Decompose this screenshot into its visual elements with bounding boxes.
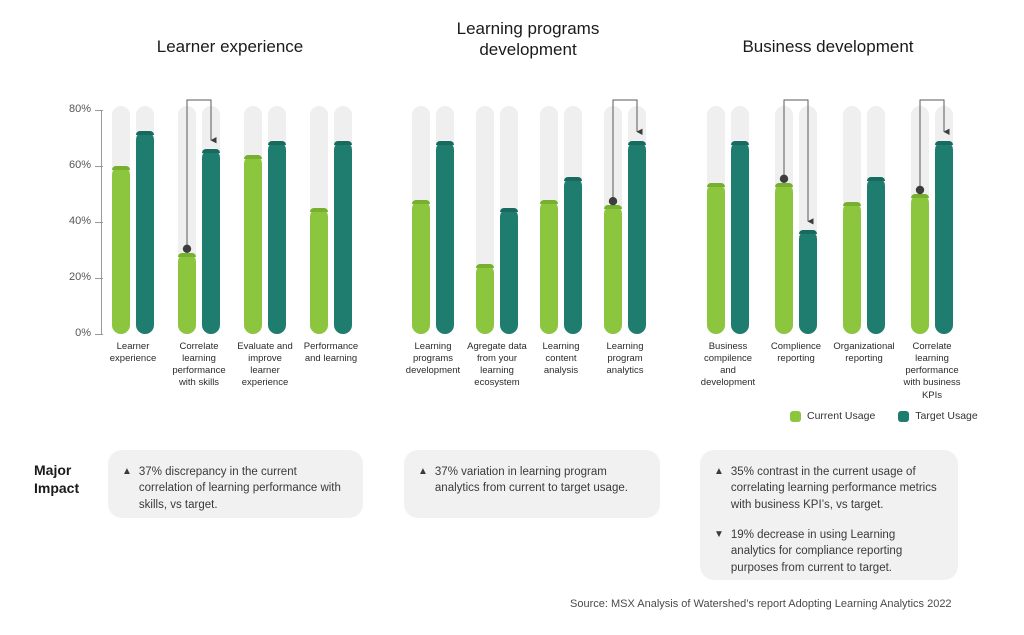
panel-title-line: Business development	[728, 36, 928, 57]
legend-label-current: Current Usage	[807, 410, 875, 422]
category-label: Evaluate andimprove learnerexperience	[234, 341, 296, 390]
bar-current[interactable]	[911, 194, 929, 334]
bar-cap	[707, 183, 725, 187]
chart-canvas: Learner experience Learning programs dev…	[0, 0, 1024, 635]
category-label-line: Correlate	[900, 341, 964, 353]
bar-current[interactable]	[476, 264, 494, 334]
category-label: Learningcontentanalysis	[530, 341, 592, 377]
impact-text: 35% contrast in the current usage of cor…	[731, 464, 942, 513]
bar-target[interactable]	[500, 208, 518, 334]
category-label: Compliencereporting	[764, 341, 828, 365]
impact-box-learner-experience: ▲37% discrepancy in the current correlat…	[108, 450, 363, 518]
bar-cap	[476, 264, 494, 268]
legend-swatch-current	[790, 411, 801, 422]
category-label-line: Organizational	[832, 341, 896, 353]
bar-current[interactable]	[540, 200, 558, 334]
bar-target[interactable]	[799, 230, 817, 334]
category-label-line: improve learner	[234, 353, 296, 377]
category-label-line: learning	[168, 353, 230, 365]
arrow-up-icon: ▲	[714, 464, 724, 513]
bar-cap	[310, 208, 328, 212]
bar-cap	[244, 155, 262, 159]
bar-current[interactable]	[843, 202, 861, 334]
panel-title-learner-experience: Learner experience	[130, 36, 330, 57]
bar-target[interactable]	[136, 131, 154, 334]
legend-swatch-target	[898, 411, 909, 422]
bar-current[interactable]	[178, 253, 196, 334]
panel-title-learning-programs-development: Learning programs development	[428, 18, 628, 61]
category-label: Correlatelearningperformancewith skills	[168, 341, 230, 390]
bar-cap	[334, 141, 352, 145]
panel-title-line: Learner experience	[130, 36, 330, 57]
category-label-line: analytics	[594, 365, 656, 377]
category-label: Correlatelearningperformancewith busines…	[900, 341, 964, 402]
category-label-line: performance	[900, 365, 964, 377]
category-label-line: development	[402, 365, 464, 377]
bar-current[interactable]	[310, 208, 328, 334]
bar-cap	[775, 183, 793, 187]
category-label-line: Complience	[764, 341, 828, 353]
y-axis-tick	[95, 166, 103, 167]
bar-target[interactable]	[334, 141, 352, 334]
category-label-line: experience	[234, 377, 296, 389]
chart-legend: Current Usage Target Usage	[790, 410, 978, 422]
bar-cap	[843, 202, 861, 206]
category-label-line: Learning	[594, 341, 656, 353]
category-label: Organizationalreporting	[832, 341, 896, 365]
category-label-line: KPIs	[900, 390, 964, 402]
category-label-line: Evaluate and	[234, 341, 296, 353]
bar-cap	[935, 141, 953, 145]
bar-cap	[911, 194, 929, 198]
bar-cap	[604, 205, 622, 209]
category-label-line: with business	[900, 377, 964, 389]
bar-cap	[268, 141, 286, 145]
category-label-line: from your	[466, 353, 528, 365]
category-label: Learnerexperience	[102, 341, 164, 365]
category-label-line: development	[696, 377, 760, 389]
bar-cap	[731, 141, 749, 145]
bar-current[interactable]	[412, 200, 430, 334]
y-axis-tick	[95, 278, 103, 279]
legend-item-target-usage: Target Usage	[898, 410, 977, 422]
legend-label-target: Target Usage	[915, 410, 977, 422]
bar-cap	[136, 131, 154, 135]
legend-item-current-usage: Current Usage	[790, 410, 875, 422]
bar-cap	[112, 166, 130, 170]
bar-cap	[412, 200, 430, 204]
bar-cap	[564, 177, 582, 181]
bar-target[interactable]	[935, 141, 953, 334]
category-label-line: content	[530, 353, 592, 365]
category-label-line: reporting	[764, 353, 828, 365]
category-label-line: Business	[696, 341, 760, 353]
source-note: Source: MSX Analysis of Watershed’s repo…	[570, 598, 952, 610]
arrow-up-icon: ▲	[418, 464, 428, 497]
arrow-down-icon: ▼	[714, 527, 724, 576]
category-label-line: Correlate	[168, 341, 230, 353]
bar-cap	[178, 253, 196, 257]
category-label-line: program	[594, 353, 656, 365]
category-label-line: programs	[402, 353, 464, 365]
category-label: Learningprogramanalytics	[594, 341, 656, 377]
bar-current[interactable]	[707, 183, 725, 334]
y-axis-tick-label: 40%	[57, 215, 91, 227]
bar-cap	[867, 177, 885, 181]
impact-text: 37% variation in learning program analyt…	[435, 464, 644, 497]
category-label: Agregate datafrom yourlearningecosystem	[466, 341, 528, 390]
bar-cap	[436, 141, 454, 145]
bar-current[interactable]	[775, 183, 793, 334]
bar-current[interactable]	[244, 155, 262, 334]
panel-title-line: development	[428, 39, 628, 60]
y-axis-tick-label: 0%	[57, 327, 91, 339]
impact-item: ▲37% variation in learning program analy…	[418, 464, 644, 497]
category-label: Businesscompilence anddevelopment	[696, 341, 760, 390]
bar-target[interactable]	[564, 177, 582, 334]
impact-box-learning-programs: ▲37% variation in learning program analy…	[404, 450, 660, 518]
category-label-line: with skills	[168, 377, 230, 389]
bar-target[interactable]	[436, 141, 454, 334]
major-impact-heading-line: Major	[34, 461, 79, 479]
y-axis-tick	[95, 334, 103, 335]
category-label-line: Learning	[530, 341, 592, 353]
arrow-up-icon: ▲	[122, 464, 132, 513]
impact-text: 19% decrease in using Learning analytics…	[731, 527, 942, 576]
y-axis-tick	[95, 222, 103, 223]
major-impact-heading-line: Impact	[34, 479, 79, 497]
impact-box-business-development: ▲35% contrast in the current usage of co…	[700, 450, 958, 580]
y-axis-tick	[95, 110, 103, 111]
category-label-line: performance	[168, 365, 230, 377]
category-label-line: Learning	[402, 341, 464, 353]
bar-cap	[628, 141, 646, 145]
category-label-line: ecosystem	[466, 377, 528, 389]
panel-title-business-development: Business development	[728, 36, 928, 57]
panel-title-line: Learning programs	[428, 18, 628, 39]
category-label-line: learning	[466, 365, 528, 377]
category-label-line: Performance	[300, 341, 362, 353]
category-label-line: analysis	[530, 365, 592, 377]
impact-item: ▲37% discrepancy in the current correlat…	[122, 464, 347, 513]
category-label: Performanceand learning	[300, 341, 362, 365]
impact-item: ▼19% decrease in using Learning analytic…	[714, 527, 942, 576]
bar-cap	[540, 200, 558, 204]
y-axis-tick-label: 60%	[57, 159, 91, 171]
category-label-line: learning	[900, 353, 964, 365]
bar-cap	[799, 230, 817, 234]
category-label-line: and learning	[300, 353, 362, 365]
category-label-line: reporting	[832, 353, 896, 365]
bar-target[interactable]	[268, 141, 286, 334]
category-label-line: Agregate data	[466, 341, 528, 353]
bar-current[interactable]	[604, 205, 622, 334]
impact-item: ▲35% contrast in the current usage of co…	[714, 464, 942, 513]
major-impact-heading: Major Impact	[34, 461, 79, 497]
category-label-line: experience	[102, 353, 164, 365]
bar-cap	[202, 149, 220, 153]
bar-target[interactable]	[867, 177, 885, 334]
y-axis-tick-label: 20%	[57, 271, 91, 283]
category-label-line: compilence and	[696, 353, 760, 377]
bar-target[interactable]	[202, 149, 220, 334]
impact-text: 37% discrepancy in the current correlati…	[139, 464, 347, 513]
bar-target[interactable]	[628, 141, 646, 334]
category-label: Learningprogramsdevelopment	[402, 341, 464, 377]
category-label-line: Learner	[102, 341, 164, 353]
bar-target[interactable]	[731, 141, 749, 334]
bar-cap	[500, 208, 518, 212]
y-axis-tick-label: 80%	[57, 103, 91, 115]
bar-current[interactable]	[112, 166, 130, 334]
